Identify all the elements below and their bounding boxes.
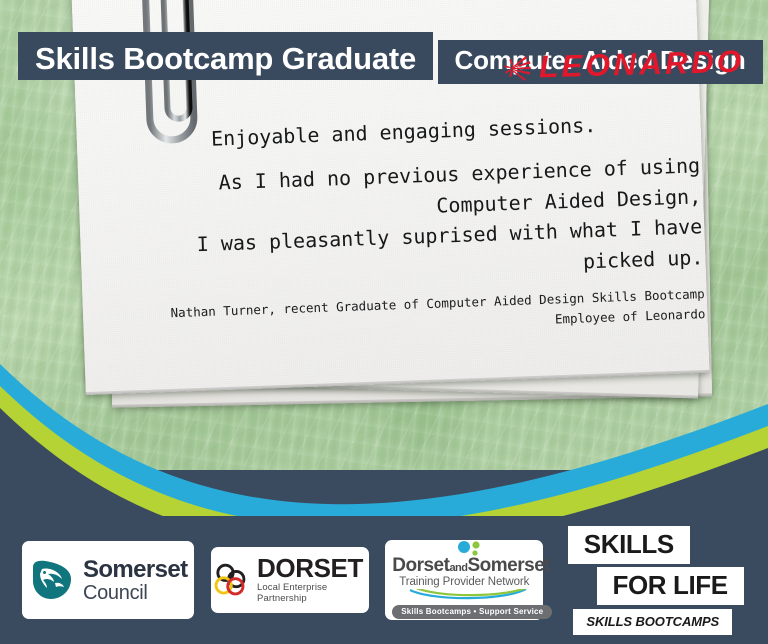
dstpn-dots-icon	[392, 541, 542, 556]
testimonial-poster: Skills Bootcamp Graduate Computer Aided …	[0, 0, 768, 644]
dorset-rings-icon	[212, 559, 250, 601]
somerset-line-2: Council	[83, 583, 188, 603]
dstpn-subtitle: Training Provider Network	[392, 577, 536, 589]
sfl-row-3: SKILLS BOOTCAMPS	[573, 609, 732, 635]
dstpn-swoosh-icon	[392, 589, 542, 600]
dorset-line-2: Local Enterprise Partnership	[257, 582, 367, 604]
logo-dorset-lep: DORSET Local Enterprise Partnership	[211, 547, 369, 613]
partner-logo-footer: Somerset Council DORSET Local Enterprise…	[0, 516, 768, 644]
leonardo-wordmark: LEONARDO	[539, 44, 745, 86]
headline-line-1: Skills Bootcamp Graduate	[18, 32, 433, 80]
dstpn-word-2: Somerset	[468, 555, 551, 576]
sfl-row-1: SKILLS	[568, 526, 690, 564]
logo-skills-for-life: SKILLS FOR LIFE SKILLS BOOTCAMPS	[560, 526, 746, 635]
somerset-line-1: Somerset	[83, 558, 188, 582]
logo-dorset-somerset-tpn: DorsetandSomerset Training Provider Netw…	[385, 540, 543, 620]
dstpn-pill-label: Skills Bootcamps • Support Service	[392, 605, 552, 619]
sfl-row-2: FOR LIFE	[597, 567, 744, 605]
wave-divider	[0, 352, 768, 542]
somerset-dragon-icon	[29, 557, 75, 603]
dorset-line-1: DORSET	[257, 556, 367, 581]
leonardo-sunburst-icon	[504, 52, 535, 83]
testimonial-text: Enjoyable and engaging sessions. As I ha…	[38, 106, 705, 347]
dstpn-word-and: and	[449, 562, 467, 574]
logo-somerset-council: Somerset Council	[22, 541, 194, 619]
dstpn-word-1: Dorset	[392, 555, 449, 576]
leonardo-logo: LEONARDO	[504, 44, 743, 87]
